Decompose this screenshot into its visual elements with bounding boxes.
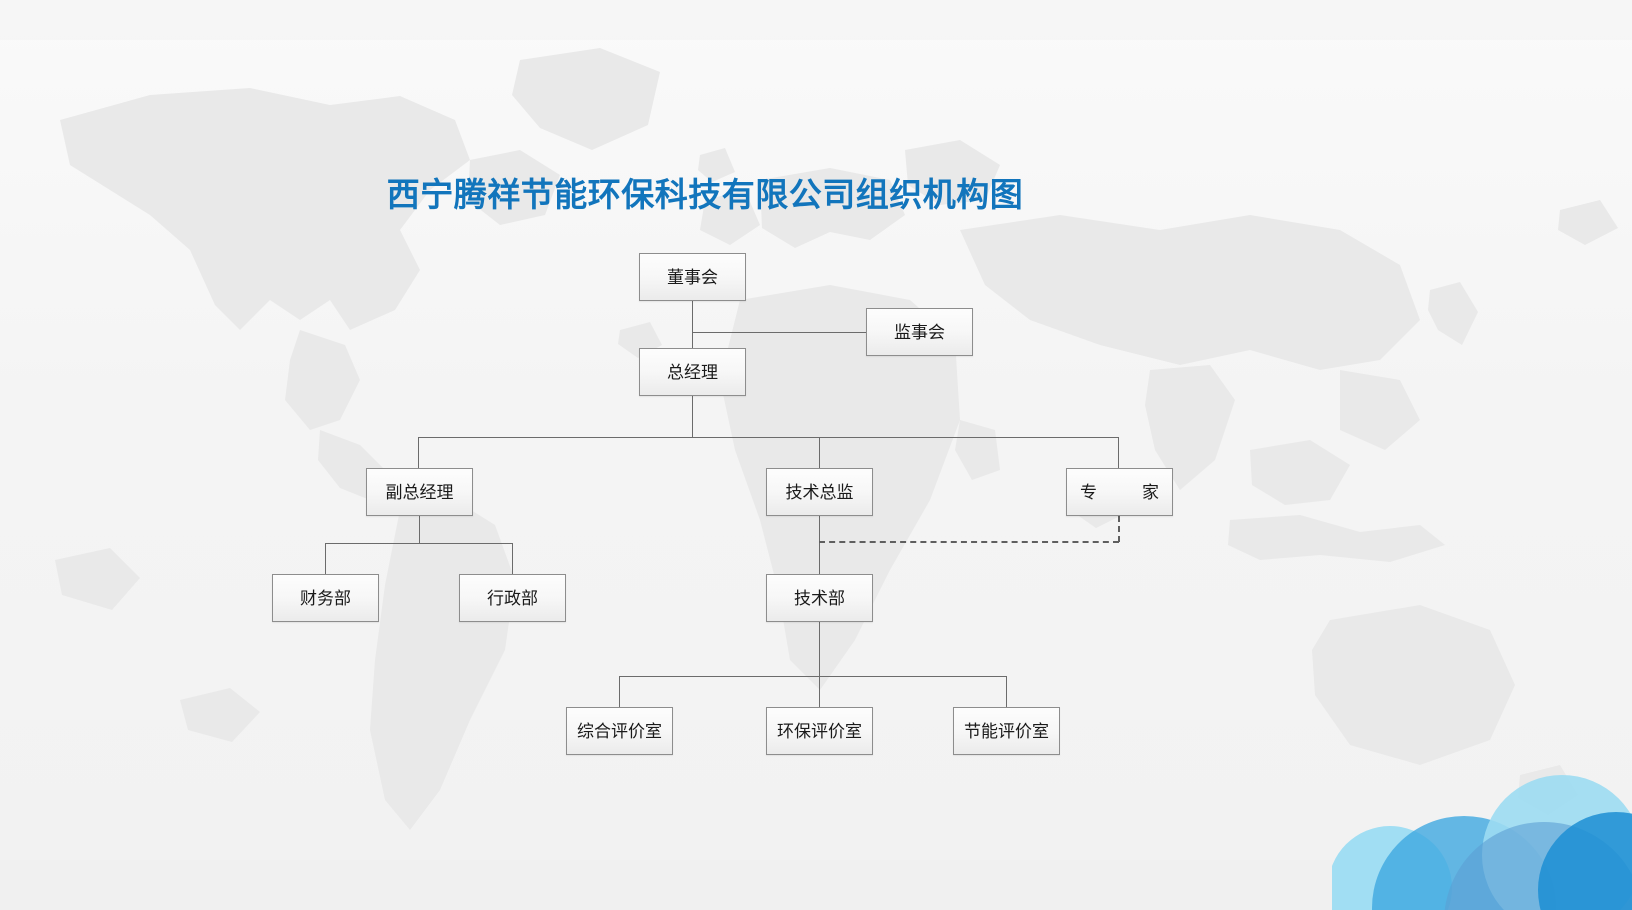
decorative-circles (1332, 740, 1632, 910)
connector-level2-bus (418, 437, 1119, 438)
connector-tech-dept-drop (819, 622, 820, 676)
node-general-manager[interactable]: 总经理 (639, 348, 746, 396)
org-chart-slide: 西宁腾祥节能环保科技有限公司组织机构图 董事会 监事会 总经理 副总经理 技术总… (0, 0, 1632, 910)
connector-drop-env-eval (819, 676, 820, 707)
connector-drop-cto (819, 437, 820, 468)
node-technology-department[interactable]: 技术部 (766, 574, 873, 622)
connector-drop-finance (325, 543, 326, 574)
connector-cto-to-tech-dept (819, 516, 820, 574)
node-technical-director[interactable]: 技术总监 (766, 468, 873, 516)
node-supervisors[interactable]: 监事会 (866, 308, 973, 356)
connector-drop-expert (1118, 437, 1119, 468)
connector-gm-drop (692, 396, 693, 437)
page-title: 西宁腾祥节能环保科技有限公司组织机构图 (0, 168, 1410, 216)
node-finance-department[interactable]: 财务部 (272, 574, 379, 622)
node-administration-department[interactable]: 行政部 (459, 574, 566, 622)
node-energy-evaluation-office[interactable]: 节能评价室 (953, 707, 1060, 755)
node-deputy-general-manager[interactable]: 副总经理 (366, 468, 473, 516)
connector-drop-general-eval (619, 676, 620, 707)
connector-expert-dashed-link (819, 541, 1119, 543)
node-board[interactable]: 董事会 (639, 253, 746, 301)
connector-gm-to-supervisors (692, 332, 866, 333)
connector-deputy-gm-drop (419, 516, 420, 543)
connector-board-to-gm (692, 301, 693, 348)
connector-drop-energy-eval (1006, 676, 1007, 707)
connector-deputy-gm-bus (325, 543, 513, 544)
connector-expert-dashed-drop (1118, 516, 1120, 542)
connector-tech-dept-bus (619, 676, 1007, 677)
connector-drop-deputy-gm (418, 437, 419, 468)
node-environmental-evaluation-office[interactable]: 环保评价室 (766, 707, 873, 755)
node-expert[interactable]: 专 家 (1066, 468, 1173, 516)
connector-drop-admin (512, 543, 513, 574)
node-general-evaluation-office[interactable]: 综合评价室 (566, 707, 673, 755)
